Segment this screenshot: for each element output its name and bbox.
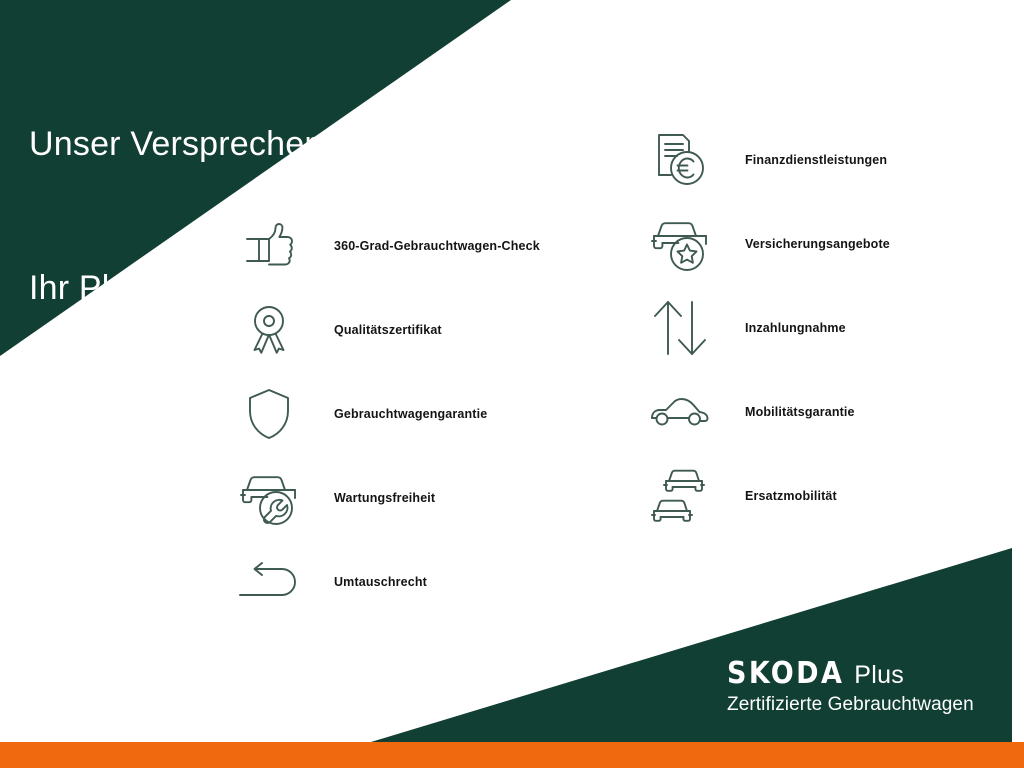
brand-tagline: Zertifizierte Gebrauchtwagen (727, 693, 987, 717)
feature-label: Versicherungsangebote (745, 237, 890, 251)
feature-label: 360-Grad-Gebrauchtwagen-Check (334, 239, 540, 253)
feature-item: Wartungsfreiheit (232, 456, 592, 540)
feature-item: Inzahlungnahme (643, 286, 1003, 370)
feature-item: Mobilitätsgarantie (643, 370, 1003, 454)
slide-canvas: Unser Versprechen. Ihr Plus. 360-Grad-Ge… (0, 0, 1024, 768)
feature-label: Mobilitätsgarantie (745, 405, 855, 419)
side-car-icon (643, 375, 717, 449)
return-arrow-icon (232, 545, 306, 619)
feature-label: Qualitätszertifikat (334, 323, 442, 337)
page-title-line-1: Unser Versprechen. (29, 120, 333, 168)
feature-label: Ersatzmobilität (745, 489, 837, 503)
orange-bottom-bar (0, 742, 1024, 768)
feature-label: Gebrauchtwagengarantie (334, 407, 487, 421)
car-wrench-icon (232, 461, 306, 535)
feature-item: 360-Grad-Gebrauchtwagen-Check (232, 204, 592, 288)
skoda-wordmark: SKODA (727, 659, 844, 689)
feature-item: Finanzdienstleistungen (643, 118, 1003, 202)
feature-item: Ersatzmobilität (643, 454, 1003, 538)
brand-logo: SKODA Plus Zertifizierte Gebrauchtwagen (727, 659, 987, 717)
two-cars-icon (643, 459, 717, 533)
feature-item: Umtauschrecht (232, 540, 592, 624)
plus-wordmark: Plus (854, 660, 904, 690)
feature-item: Versicherungsangebote (643, 202, 1003, 286)
feature-label: Wartungsfreiheit (334, 491, 435, 505)
feature-item: Qualitätszertifikat (232, 288, 592, 372)
feature-item: Gebrauchtwagengarantie (232, 372, 592, 456)
up-down-arrows-icon (643, 291, 717, 365)
feature-column-left: 360-Grad-Gebrauchtwagen-Check Qualitätsz… (232, 204, 592, 624)
feature-label: Inzahlungnahme (745, 321, 846, 335)
feature-label: Finanzdienstleistungen (745, 153, 887, 167)
car-star-icon (643, 207, 717, 281)
feature-label: Umtauschrecht (334, 575, 427, 589)
award-rosette-icon (232, 293, 306, 367)
document-euro-icon (643, 123, 717, 197)
brand-logo-row: SKODA Plus (727, 659, 987, 689)
shield-icon (232, 377, 306, 451)
thumbs-up-icon (232, 209, 306, 283)
feature-column-right: Finanzdienstleistungen Versicherungsange… (643, 118, 1003, 538)
